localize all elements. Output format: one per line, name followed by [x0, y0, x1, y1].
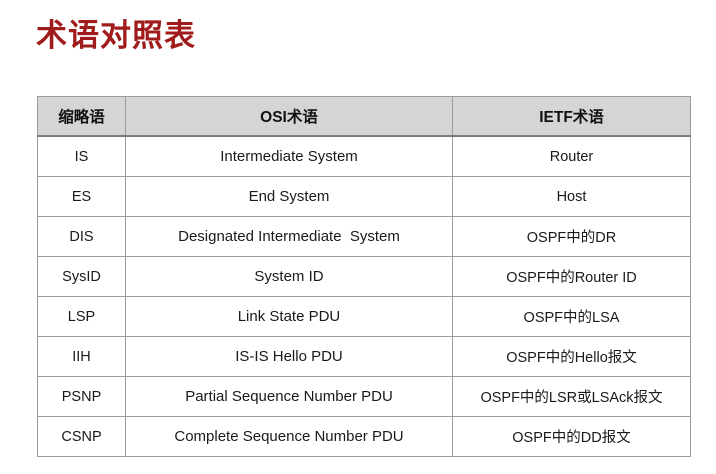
terminology-table: 缩略语 OSI术语 IETF术语 IS Intermediate System …: [37, 96, 691, 457]
cell-abbreviation: CSNP: [38, 417, 126, 457]
cell-osi-term: Link State PDU: [126, 297, 453, 337]
table-row: ES End System Host: [38, 177, 691, 217]
cell-osi-term: Complete Sequence Number PDU: [126, 417, 453, 457]
table-row: SysID System ID OSPF中的Router ID: [38, 257, 691, 297]
cell-ietf-term: OSPF中的LSR或LSAck报文: [453, 377, 691, 417]
cell-osi-term: Intermediate System: [126, 136, 453, 177]
cell-ietf-term: OSPF中的DR: [453, 217, 691, 257]
cell-abbreviation: IIH: [38, 337, 126, 377]
table-row: CSNP Complete Sequence Number PDU OSPF中的…: [38, 417, 691, 457]
cell-abbreviation: LSP: [38, 297, 126, 337]
column-header-osi-term: OSI术语: [126, 97, 453, 137]
cell-osi-term: Partial Sequence Number PDU: [126, 377, 453, 417]
table-body: IS Intermediate System Router ES End Sys…: [38, 136, 691, 457]
cell-osi-term: IS-IS Hello PDU: [126, 337, 453, 377]
table-row: IS Intermediate System Router: [38, 136, 691, 177]
cell-ietf-term: OSPF中的DD报文: [453, 417, 691, 457]
cell-ietf-term: Router: [453, 136, 691, 177]
table-row: LSP Link State PDU OSPF中的LSA: [38, 297, 691, 337]
terminology-table-container: 缩略语 OSI术语 IETF术语 IS Intermediate System …: [37, 96, 690, 448]
table-row: PSNP Partial Sequence Number PDU OSPF中的L…: [38, 377, 691, 417]
cell-ietf-term: Host: [453, 177, 691, 217]
column-header-abbreviation: 缩略语: [38, 97, 126, 137]
slide-canvas: 术语对照表 缩略语 OSI术语 IETF术语 IS Intermediate S…: [0, 0, 716, 474]
cell-ietf-term: OSPF中的LSA: [453, 297, 691, 337]
page-title: 术语对照表: [36, 14, 196, 58]
table-header: 缩略语 OSI术语 IETF术语: [38, 97, 691, 137]
cell-ietf-term: OSPF中的Hello报文: [453, 337, 691, 377]
table-row: DIS Designated Intermediate System OSPF中…: [38, 217, 691, 257]
cell-abbreviation: ES: [38, 177, 126, 217]
table-row: IIH IS-IS Hello PDU OSPF中的Hello报文: [38, 337, 691, 377]
cell-osi-term: System ID: [126, 257, 453, 297]
cell-abbreviation: PSNP: [38, 377, 126, 417]
cell-ietf-term: OSPF中的Router ID: [453, 257, 691, 297]
cell-osi-term: Designated Intermediate System: [126, 217, 453, 257]
cell-abbreviation: SysID: [38, 257, 126, 297]
cell-osi-term: End System: [126, 177, 453, 217]
cell-abbreviation: IS: [38, 136, 126, 177]
cell-abbreviation: DIS: [38, 217, 126, 257]
column-header-ietf-term: IETF术语: [453, 97, 691, 137]
table-header-row: 缩略语 OSI术语 IETF术语: [38, 97, 691, 137]
